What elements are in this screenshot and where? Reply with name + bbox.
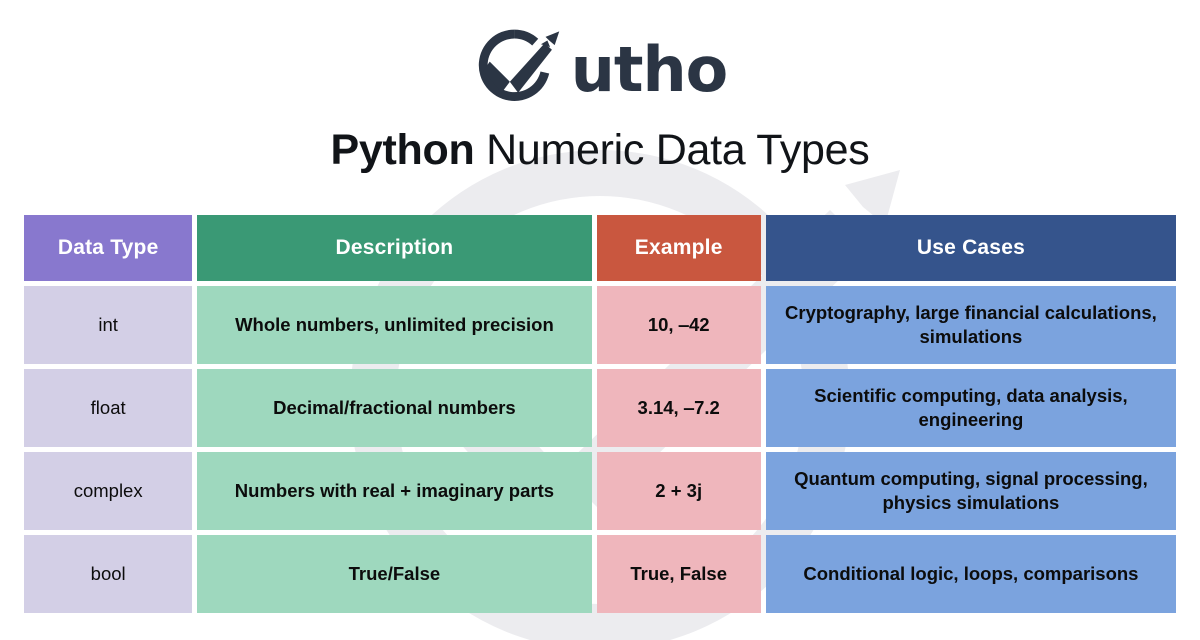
table-row: float Decimal/fractional numbers 3.14, ‒… [24,369,1176,447]
cell-description: True/False [197,535,591,613]
cell-description: Whole numbers, unlimited precision [197,286,591,364]
cell-use-cases: Scientific computing, data analysis, eng… [766,369,1176,447]
utho-check-rocket-icon [473,25,565,111]
column-header-use-cases: Use Cases [766,215,1176,281]
page-title-strong: Python [331,126,475,174]
table-row: complex Numbers with real + imaginary pa… [24,452,1176,530]
brand-name: utho [571,39,728,101]
cell-data-type: bool [24,535,192,613]
cell-example: 10, ‒42 [597,286,761,364]
cell-description: Numbers with real + imaginary parts [197,452,591,530]
column-header-data-type: Data Type [24,215,192,281]
cell-use-cases: Cryptography, large financial calculatio… [766,286,1176,364]
column-header-description: Description [197,215,591,281]
cell-data-type: complex [24,452,192,530]
cell-example: 3.14, ‒7.2 [597,369,761,447]
cell-example: True, False [597,535,761,613]
cell-data-type: int [24,286,192,364]
infographic-page: utho Python Numeric Data Types Data Type… [0,0,1200,640]
cell-data-type: float [24,369,192,447]
data-types-table: Data Type Description Example Use Cases … [24,215,1176,613]
column-header-example: Example [597,215,761,281]
cell-description: Decimal/fractional numbers [197,369,591,447]
table-row: bool True/False True, False Conditional … [24,535,1176,613]
cell-use-cases: Quantum computing, signal processing, ph… [766,452,1176,530]
cell-example: 2 + 3j [597,452,761,530]
table-row: int Whole numbers, unlimited precision 1… [24,286,1176,364]
brand-logo: utho [0,22,1200,114]
table-header-row: Data Type Description Example Use Cases [24,215,1176,281]
page-title-rest: Numeric Data Types [474,126,869,174]
cell-use-cases: Conditional logic, loops, comparisons [766,535,1176,613]
page-title: Python Numeric Data Types [0,126,1200,175]
